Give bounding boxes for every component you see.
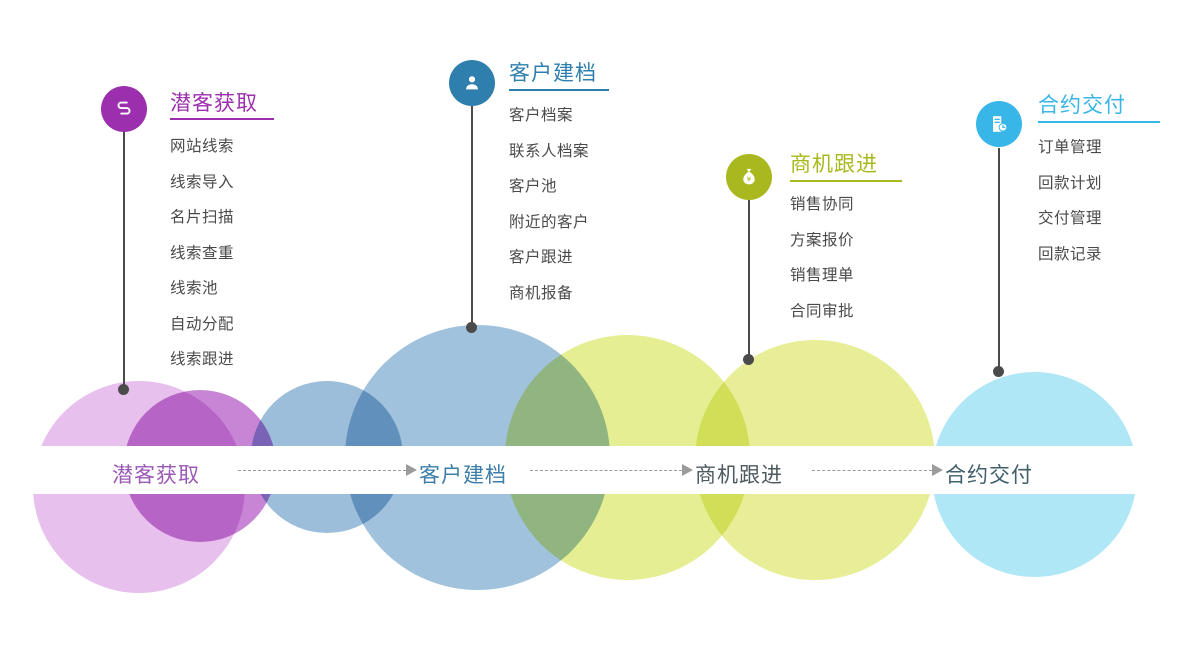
list-item[interactable]: 商机报备 [509,276,589,312]
stage-3-items: 销售协同 方案报价 销售理单 合同审批 [790,187,854,329]
list-item[interactable]: 名片扫描 [170,200,234,236]
list-item[interactable]: 线索查重 [170,236,234,272]
flow-connector-1 [238,470,406,472]
list-item[interactable]: 回款计划 [1038,166,1102,202]
flow-arrow-2 [682,464,693,476]
list-item[interactable]: 线索导入 [170,165,234,201]
list-item[interactable]: 合同审批 [790,294,854,330]
list-item[interactable]: 订单管理 [1038,130,1102,166]
svg-text:¥: ¥ [747,175,752,184]
stage-2-underline [509,89,609,91]
stage-1-items: 网站线索 线索导入 名片扫描 线索查重 线索池 自动分配 线索跟进 [170,129,234,378]
stage-1-title: 潜客获取 [170,87,258,117]
stage-2-stem-dot [466,322,477,333]
stage-3-title: 商机跟进 [790,148,878,178]
list-item[interactable]: 交付管理 [1038,201,1102,237]
stage-1-stem [123,128,125,390]
flow-connector-2 [530,470,682,472]
diagram-canvas: 潜客获取 客户建档 商机跟进 合约交付 潜客获取 网站线索 线索导入 名片扫描 … [0,0,1200,666]
money-bag-icon: ¥ [726,154,772,200]
list-item[interactable]: 附近的客户 [509,205,589,241]
stage-3-stem-dot [743,354,754,365]
stage-4-stem [998,148,1000,374]
list-item[interactable]: 销售理单 [790,258,854,294]
stage-2-stem [471,104,473,330]
document-clock-icon [976,101,1022,147]
list-item[interactable]: 自动分配 [170,307,234,343]
lead-icon [101,86,147,132]
flow-label-3: 商机跟进 [695,459,783,489]
list-item[interactable]: 线索跟进 [170,342,234,378]
list-item[interactable]: 回款记录 [1038,237,1102,273]
flow-arrow-3 [932,464,943,476]
stage-3-stem [748,196,750,362]
stage-1-underline [170,118,274,120]
flow-connector-3 [812,470,932,472]
stage-1-stem-dot [118,384,129,395]
list-item[interactable]: 客户档案 [509,98,589,134]
list-item[interactable]: 方案报价 [790,223,854,259]
stage-2-title: 客户建档 [509,57,597,87]
flow-label-4: 合约交付 [945,459,1033,489]
list-item[interactable]: 销售协同 [790,187,854,223]
flow-label-2: 客户建档 [419,459,507,489]
list-item[interactable]: 网站线索 [170,129,234,165]
flow-arrow-1 [406,464,417,476]
list-item[interactable]: 客户跟进 [509,240,589,276]
list-item[interactable]: 客户池 [509,169,589,205]
list-item[interactable]: 联系人档案 [509,134,589,170]
stage-4-underline [1038,121,1160,123]
user-icon [449,60,495,106]
stage-4-stem-dot [993,366,1004,377]
stage-4-items: 订单管理 回款计划 交付管理 回款记录 [1038,130,1102,272]
stage-3-underline [790,180,902,182]
list-item[interactable]: 线索池 [170,271,234,307]
stage-2-items: 客户档案 联系人档案 客户池 附近的客户 客户跟进 商机报备 [509,98,589,311]
flow-label-1: 潜客获取 [112,459,200,489]
stage-4-title: 合约交付 [1038,89,1126,119]
